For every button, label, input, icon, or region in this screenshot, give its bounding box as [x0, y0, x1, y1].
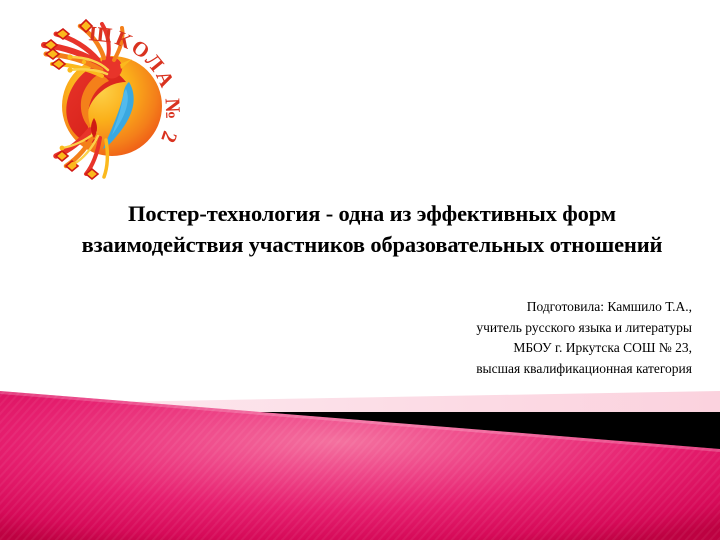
magenta-wedge-texture [0, 391, 720, 540]
subtitle-line-position: учитель русского языка и литературы [300, 318, 692, 339]
presentation-slide: ШКОЛА № 23 Постер-технология - одна из э… [0, 0, 720, 540]
subtitle-line-school: МБОУ г. Иркутска СОШ № 23, [300, 338, 692, 359]
school-emblem-logo: ШКОЛА № 23 [8, 14, 198, 184]
page-title: Постер-технология - одна из эффективных … [52, 198, 692, 260]
magenta-wedge-edge-highlight [0, 391, 720, 452]
subtitle-line-author: Подготовила: Камшило Т.А., [300, 297, 692, 318]
light-pink-wedge-top-cut [0, 386, 720, 404]
magenta-wedge [0, 391, 720, 540]
subtitle-line-category: высшая квалификационная категория [300, 359, 692, 380]
slide-title-block: Постер-технология - одна из эффективных … [52, 198, 692, 260]
slide-subtitle-block: Подготовила: Камшило Т.А., учитель русск… [300, 297, 692, 379]
light-pink-wedge [0, 389, 720, 412]
black-wedge [0, 412, 720, 452]
